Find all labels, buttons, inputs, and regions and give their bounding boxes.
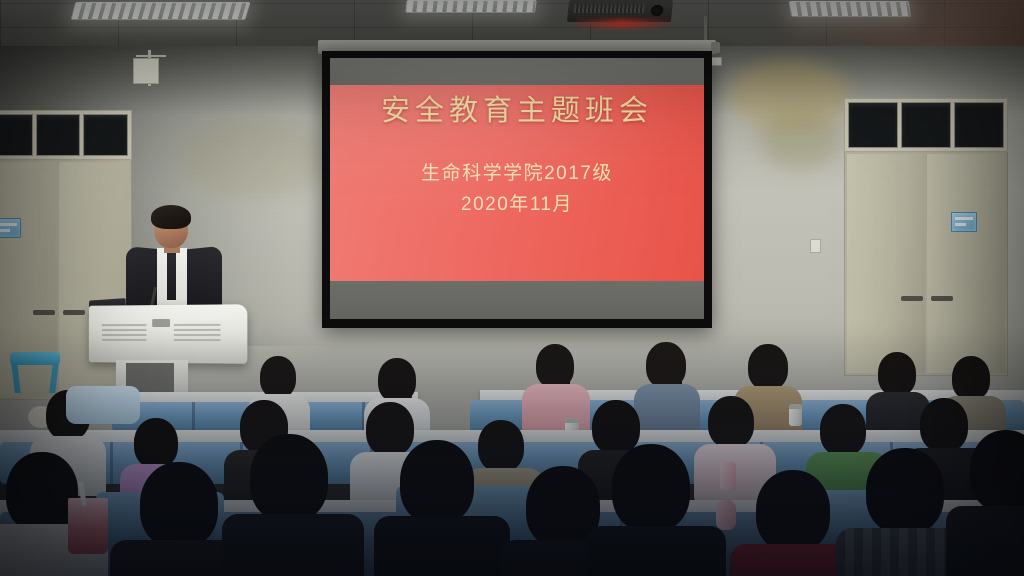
door-handle[interactable] [931,296,953,301]
head [134,418,178,468]
projector-vents [574,4,645,13]
torso [222,514,364,576]
slide-subtitle-line2: 2020年11月 [330,189,704,216]
head [478,420,524,472]
transom-window-row [844,98,1008,152]
slide-top-band [330,58,704,85]
head [708,396,754,448]
door-leaf-right[interactable] [927,154,1005,373]
transom-window [954,102,1004,148]
presenter-tie [167,252,176,300]
ceiling-light-panel [405,0,537,13]
water-bottle [789,404,802,426]
transom-window [848,102,898,148]
transom-window [36,114,81,156]
presentation-slide: 安全教育主题班会 生命科学学院2017级 2020年11月 [330,58,704,319]
head [536,344,574,388]
head [612,444,690,532]
door-handle[interactable] [63,310,85,315]
transom-window [901,102,951,148]
head [250,434,328,522]
wall-conduit [136,55,166,57]
door-handle[interactable] [901,296,923,301]
wall-stain [180,120,330,200]
lectern-vent [174,324,221,344]
lectern-control-plate[interactable] [152,319,170,327]
door-notice-sign [951,212,977,232]
wall-vent-panel [133,58,159,84]
torso [634,384,700,436]
water-bottle [716,500,736,530]
head [748,344,788,390]
lectern [89,304,248,364]
door-leaves[interactable] [844,152,1008,376]
head [756,470,830,552]
door-handle[interactable] [33,310,55,315]
door-notice-sign [0,218,21,238]
head [646,342,686,388]
head [820,404,866,456]
transom-window [0,114,33,156]
head [866,448,944,534]
blue-plastic-stool[interactable] [10,352,60,392]
stool-leg [11,363,21,393]
backpack [66,386,140,424]
screen-housing-cap [711,42,720,53]
torso [586,526,726,576]
door-leaf-left[interactable] [847,154,925,373]
ceiling-light-panel [70,2,250,20]
transom-window-row [0,110,132,160]
water-bottle [720,462,736,490]
head [140,462,218,548]
head [592,400,640,454]
head [378,358,416,402]
head [260,356,296,398]
wall-stain [760,110,840,170]
classroom-door-right[interactable] [844,98,1008,376]
head [878,352,916,396]
slide-subtitle-line1: 生命科学学院2017级 [330,158,704,185]
head [970,430,1024,512]
head [366,402,414,456]
presenter-hair [151,205,191,229]
projector-lens-icon [650,5,663,16]
light-switch[interactable] [810,239,821,253]
slide-bottom-band [330,281,704,319]
torso [374,516,510,576]
stool-leg [49,363,59,393]
head [920,398,968,452]
head [952,356,990,400]
head [400,440,474,524]
transom-window [83,114,128,156]
drink-cup [68,498,108,554]
projection-screen: 安全教育主题班会 生命科学学院2017级 2020年11月 [322,51,712,328]
lectern-vent [102,324,146,344]
ceiling-light-panel [789,1,912,17]
slide-title: 安全教育主题班会 [330,87,704,129]
lecture-hall-photo: 安全教育主题班会 生命科学学院2017级 2020年11月 [0,0,1024,576]
torso [946,506,1024,576]
projector-glow [574,19,670,28]
